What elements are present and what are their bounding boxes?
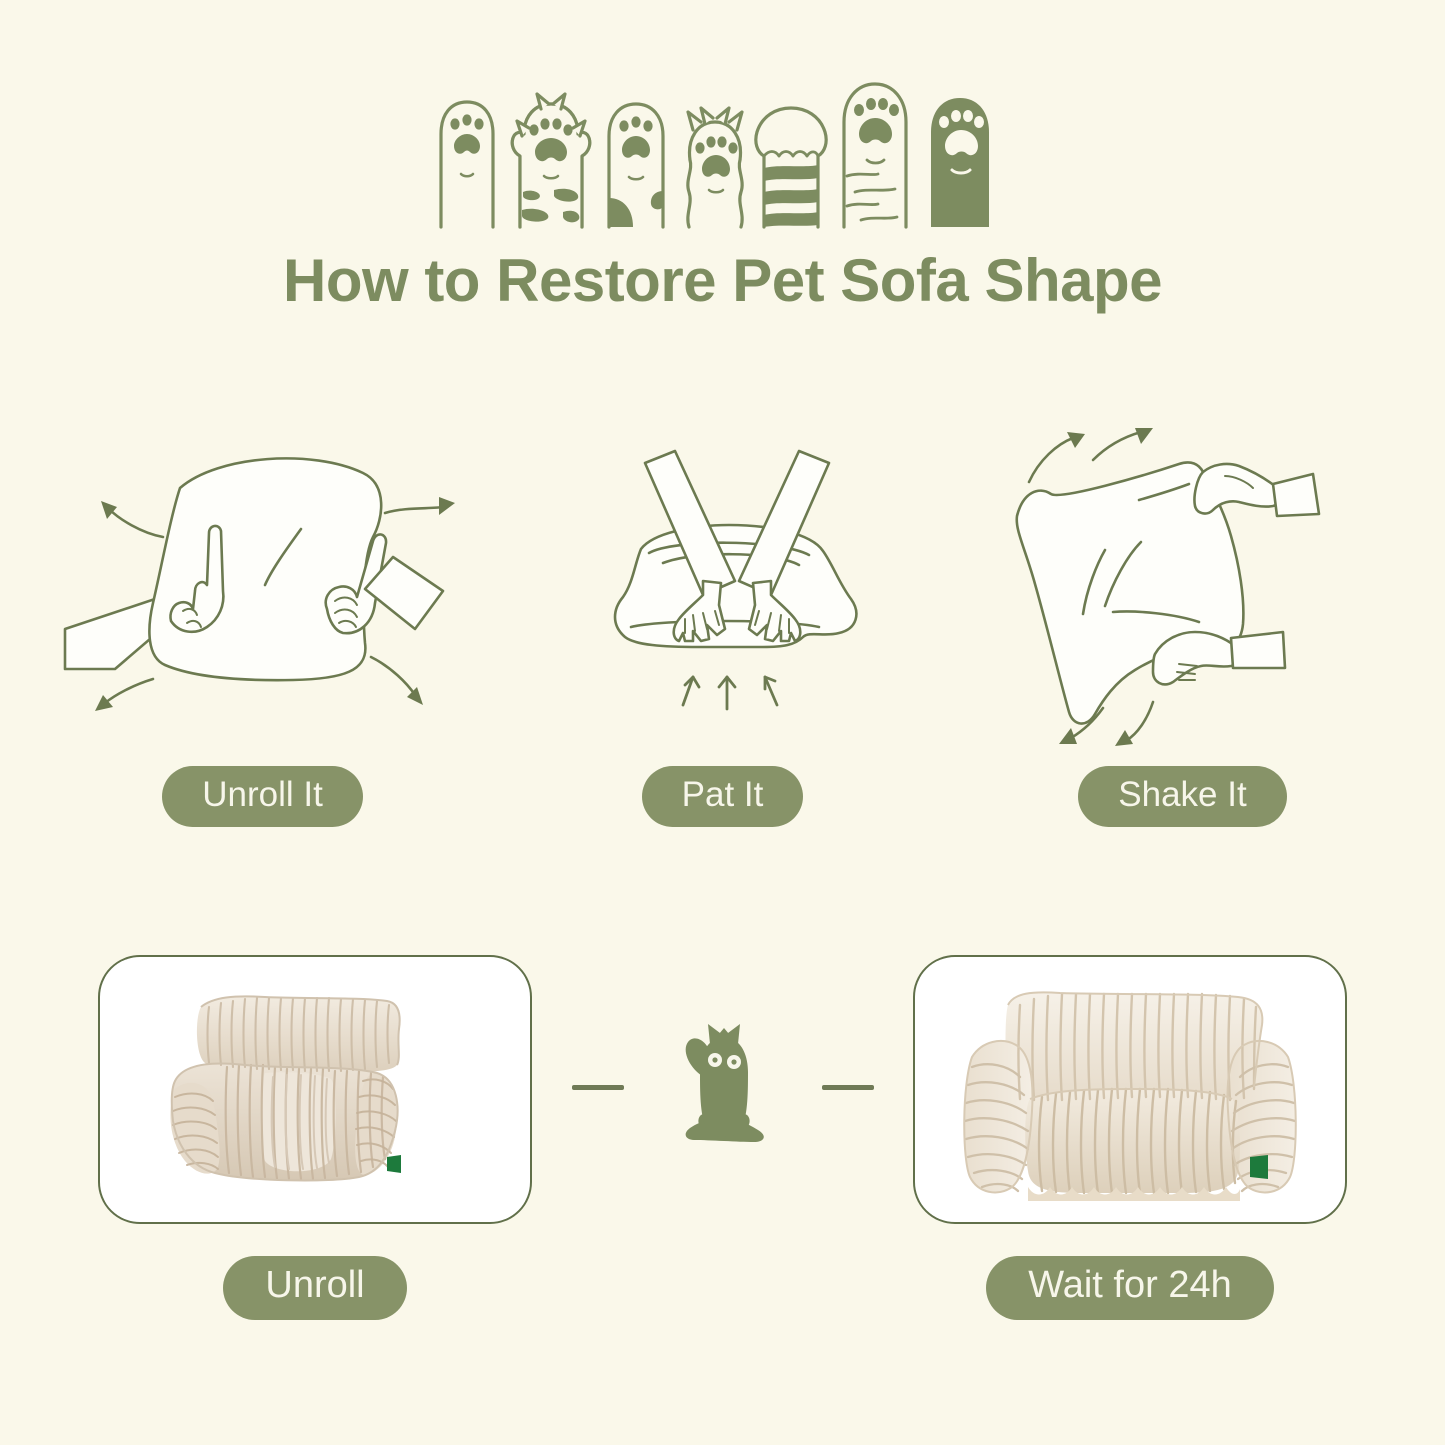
brand-tag	[1250, 1155, 1268, 1179]
step-shake-it: Shake It	[953, 418, 1413, 827]
compressed-rolled-pet-bed-photo	[105, 961, 525, 1219]
result-after: Wait for 24h	[913, 955, 1348, 1320]
result-label-unroll: Unroll	[223, 1256, 406, 1320]
hands-patting-cushion-graphic	[503, 433, 943, 733]
result-label-wait-24h: Wait for 24h	[986, 1256, 1273, 1320]
hands-shaking-cushion-graphic	[963, 418, 1403, 748]
steps-row: Unroll It	[0, 418, 1445, 827]
photo-card-expanded-bed	[913, 955, 1347, 1224]
separator-dash-right	[822, 1085, 874, 1090]
paw-tall-striped-icon	[844, 84, 906, 227]
expanded-pet-sofa-bed-photo	[920, 961, 1340, 1219]
step-label-shake-it: Shake It	[1078, 766, 1286, 827]
brand-tag	[387, 1155, 401, 1173]
shake-illustration	[963, 418, 1403, 748]
results-row: Unroll	[0, 955, 1445, 1320]
paw-row-graphic	[423, 64, 1023, 229]
hands-stretching-cushion-graphic	[43, 433, 483, 733]
unroll-illustration	[43, 418, 483, 748]
step-unroll-it: Unroll It	[33, 418, 493, 827]
cat-silhouette-graphic	[658, 1018, 788, 1158]
result-separator	[533, 955, 913, 1220]
infographic-page: How to Restore Pet Sofa Shape	[0, 0, 1445, 1445]
page-title: How to Restore Pet Sofa Shape	[0, 248, 1445, 314]
paw-solid-filled-icon	[931, 98, 989, 227]
paw-plain-light-icon	[441, 102, 493, 227]
pat-illustration	[503, 418, 943, 748]
step-pat-it: Pat It	[493, 418, 953, 827]
step-label-unroll-it: Unroll It	[162, 766, 363, 827]
paw-wavy-claws-icon	[687, 108, 741, 227]
paw-scalloped-striped-icon	[755, 108, 825, 227]
step-label-pat-it: Pat It	[642, 766, 804, 827]
paw-claws-striped-icon	[512, 94, 589, 227]
cat-silhouette-icon	[658, 1018, 788, 1158]
result-before: Unroll	[98, 955, 533, 1320]
paw-spotted-icon	[609, 104, 663, 227]
photo-card-compressed-bed	[98, 955, 532, 1224]
separator-dash-left	[572, 1085, 624, 1090]
paw-decoration-row	[0, 64, 1445, 229]
